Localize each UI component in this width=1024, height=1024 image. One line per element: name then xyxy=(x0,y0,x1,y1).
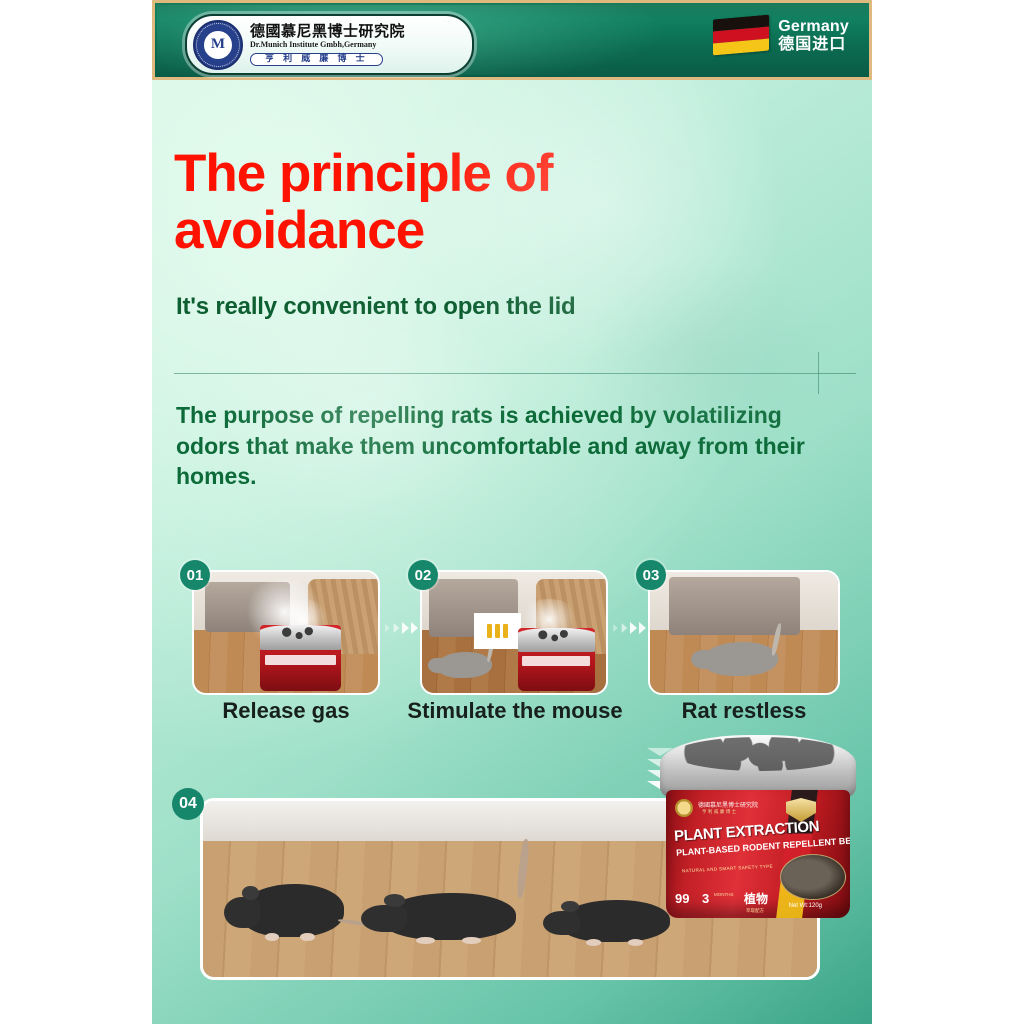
institute-name-cn: 德國慕尼黑博士研究院 xyxy=(250,24,405,39)
step-image-01 xyxy=(192,570,380,695)
rat-head xyxy=(224,897,259,928)
rat-foot xyxy=(628,939,643,946)
jar-vent-holes-icon xyxy=(674,737,846,771)
content-canvas: M 德國慕尼黑博士研究院 Dr.Munich Institute Gmbh,Ge… xyxy=(152,0,872,1024)
jar-lid-icon xyxy=(660,735,856,797)
origin-label-cn: 德国进口 xyxy=(778,35,849,52)
rat-head xyxy=(361,905,407,933)
jar-lid-icon xyxy=(518,628,595,652)
body-paragraph: The purpose of repelling rats is achieve… xyxy=(176,400,816,492)
origin-block: Germany 德国进口 xyxy=(713,17,849,53)
rat-ear xyxy=(242,886,259,900)
product-ad-page: M 德國慕尼黑博士研究院 Dr.Munich Institute Gmbh,Ge… xyxy=(0,0,1024,1024)
step-badge-04: 04 xyxy=(172,788,204,820)
rat-foot xyxy=(586,939,601,946)
chevron-right-icon xyxy=(411,622,418,634)
section-divider-tick xyxy=(818,352,819,394)
step-badge-02: 02 xyxy=(408,560,438,590)
mouse-figure xyxy=(703,642,778,676)
institute-logo-text: 德國慕尼黑博士研究院 Dr.Munich Institute Gmbh,Germ… xyxy=(250,24,405,66)
page-title: The principle of avoidance xyxy=(174,145,694,259)
product-badge-cn-sub: 萃取配方 xyxy=(746,908,764,914)
chevron-right-icon xyxy=(613,624,618,632)
steps-row: 01 02 xyxy=(170,560,860,695)
product-brand-cn-sub: 亨 利 威 廉 博 士 xyxy=(702,809,736,815)
mouse-figure xyxy=(437,652,492,679)
product-jar-hero: 德國慕尼黑博士研究院 亨 利 威 廉 博 士 PLANT EXTRACTION … xyxy=(658,735,858,925)
rat-figure xyxy=(559,900,670,942)
origin-text: Germany 德国进口 xyxy=(778,18,849,53)
product-jar-small xyxy=(260,625,341,690)
seal-monogram: M xyxy=(202,29,234,61)
alert-mark xyxy=(503,624,508,638)
jar-label-strip xyxy=(522,656,590,666)
chevron-right-icon xyxy=(639,622,646,634)
product-brand-cn: 德國慕尼黑博士研究院 xyxy=(698,800,758,809)
jar-label-strip xyxy=(265,655,336,665)
germany-flag-icon xyxy=(713,15,769,56)
rat-head xyxy=(543,911,581,935)
product-tagline: NATURAL AND SMART SAFETY TYPE xyxy=(682,864,773,874)
product-jar-small xyxy=(518,628,595,691)
step-arrow-1-to-2 xyxy=(384,622,418,634)
step-caption-03: Rat restless xyxy=(646,698,842,724)
section-divider xyxy=(174,373,856,374)
page-subtitle: It's really convenient to open the lid xyxy=(176,293,836,321)
origin-label-en: Germany xyxy=(778,18,849,35)
institute-logo-plate: M 德國慕尼黑博士研究院 Dr.Munich Institute Gmbh,Ge… xyxy=(185,14,474,75)
product-badge-99: 99 xyxy=(675,891,689,906)
product-net-weight: Net Wt:120g xyxy=(789,903,822,909)
irritation-alert-card xyxy=(474,613,522,649)
rat-ear xyxy=(384,894,406,906)
rat-ear xyxy=(561,901,579,912)
step-badge-01: 01 xyxy=(180,560,210,590)
product-rat-illustration xyxy=(780,854,846,900)
rat-figure xyxy=(240,884,344,937)
scene-rat-restless xyxy=(650,572,838,693)
product-badge-cn: 植物 xyxy=(744,890,768,907)
step-badge-03: 03 xyxy=(636,560,666,590)
step-caption-02: Stimulate the mouse xyxy=(406,698,624,724)
chevron-right-icon xyxy=(402,622,409,634)
jar-lid-icon xyxy=(260,625,341,650)
chevron-right-icon xyxy=(630,622,637,634)
scene-stimulate-mouse xyxy=(422,572,606,693)
chevron-right-icon xyxy=(385,624,390,632)
product-badge-3: 3 xyxy=(702,891,709,906)
step-image-03 xyxy=(648,570,840,695)
step-caption-01: Release gas xyxy=(206,698,366,724)
chevron-right-icon xyxy=(622,623,628,633)
institute-seal-icon: M xyxy=(193,20,243,70)
institute-doctor-pill: 亨 利 威 廉 博 士 xyxy=(250,53,383,66)
alert-mark xyxy=(495,624,500,638)
brand-header-bar: M 德國慕尼黑博士研究院 Dr.Munich Institute Gmbh,Ge… xyxy=(152,0,872,80)
rat-figure xyxy=(381,893,516,941)
jar-label: 德國慕尼黑博士研究院 亨 利 威 廉 博 士 PLANT EXTRACTION … xyxy=(666,790,850,918)
product-badge-3-sub: MONTHS xyxy=(714,892,734,897)
institute-name-en: Dr.Munich Institute Gmbh,Germany xyxy=(250,41,405,49)
step-image-02 xyxy=(420,570,608,695)
step-arrow-2-to-3 xyxy=(612,622,646,634)
brand-seal-icon xyxy=(675,799,693,817)
scene-release-gas xyxy=(194,572,378,693)
chevron-right-icon xyxy=(394,623,400,633)
alert-mark xyxy=(487,624,492,638)
